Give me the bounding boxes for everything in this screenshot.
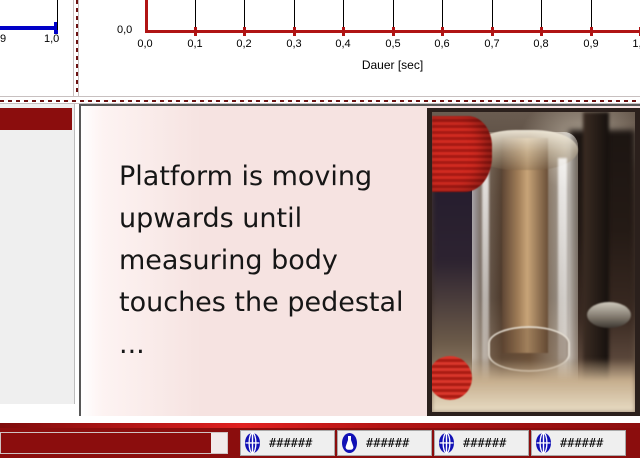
photo-red-knob-top	[432, 116, 492, 192]
laboratory-photo-image	[432, 112, 635, 412]
red-chart-x-tick-label-4: 0,4	[335, 38, 350, 50]
red-chart-tickmark-6	[441, 27, 444, 36]
horizontal-splitter-dash	[0, 100, 640, 102]
lower-region: Platform is moving upwards until measuri…	[0, 104, 640, 420]
red-chart-gridline-9	[591, 0, 592, 30]
photo-measuring-body	[502, 138, 548, 353]
red-chart-x-tick-label-1: 0,1	[187, 38, 202, 50]
red-chart-tickmark-9	[590, 27, 593, 36]
status-item[interactable]: ######	[434, 430, 529, 456]
red-chart-tickmark-3	[293, 27, 296, 36]
slide-content-card[interactable]: Platform is moving upwards until measuri…	[79, 104, 640, 416]
status-item-label: ######	[269, 436, 312, 450]
red-chart-y-zero-label: 0,0	[117, 24, 132, 36]
red-chart-tickmark-4	[342, 27, 345, 36]
red-chart-gridline-6	[442, 0, 443, 30]
blue-chart-panel[interactable]: 9 1,0	[0, 0, 73, 100]
globe-flask-icon	[341, 432, 358, 454]
red-chart-x-tick-label-9: 0,9	[583, 38, 598, 50]
red-chart-gridline-1	[195, 0, 196, 30]
red-chart-tickmark-8	[540, 27, 543, 36]
photo-dark-post	[583, 112, 609, 382]
red-chart-x-tick-label-5: 0,5	[385, 38, 400, 50]
blue-chart-gridline	[57, 0, 58, 30]
progress-bar[interactable]	[0, 432, 228, 454]
progress-bar-fill	[1, 433, 211, 453]
red-chart-gridline-7	[492, 0, 493, 30]
red-chart-gridline-5	[393, 0, 394, 30]
red-chart-x-tick-label-7: 0,7	[484, 38, 499, 50]
red-chart-x-tick-label-6: 0,6	[434, 38, 449, 50]
globe-split-icon	[438, 432, 455, 454]
red-chart-gridline-4	[343, 0, 344, 30]
horizontal-splitter[interactable]	[0, 96, 640, 104]
photo-metal-screw	[587, 302, 631, 328]
red-chart-tickmark-7	[491, 27, 494, 36]
red-chart-y-axis	[145, 0, 148, 33]
red-chart-panel[interactable]: 0,0 0,00,10,20,30,40,50,60,70,80,91,0 Da…	[79, 0, 640, 100]
status-item[interactable]: ######	[531, 430, 626, 456]
left-side-panel[interactable]	[0, 104, 75, 404]
status-item[interactable]: ######	[240, 430, 335, 456]
red-chart-gridline-3	[294, 0, 295, 30]
globe-split-icon	[244, 432, 261, 454]
red-chart-tickmark-5	[392, 27, 395, 36]
red-chart-axis-title: Dauer [sec]	[145, 58, 640, 72]
bottom-status-bar: ########################	[0, 416, 640, 458]
red-chart-gridline-2	[244, 0, 245, 30]
laboratory-photo	[427, 108, 640, 416]
left-panel-header-bar	[0, 108, 72, 130]
blue-series-line	[0, 26, 58, 30]
chart-strip: 9 1,0 0,0 0,00,10,20,30,40,50,60,70,80,9…	[0, 0, 640, 100]
status-item-label: ######	[463, 436, 506, 450]
status-item-label: ######	[560, 436, 603, 450]
red-chart-x-tick-label-0: 0,0	[137, 38, 152, 50]
slide-caption-text: Platform is moving upwards until measuri…	[119, 156, 419, 366]
status-item[interactable]: ######	[337, 430, 432, 456]
vertical-splitter-dash	[76, 0, 78, 100]
red-chart-gridline-8	[541, 0, 542, 30]
status-item-label: ######	[366, 436, 409, 450]
globe-split-icon	[535, 432, 552, 454]
red-chart-x-tick-label-2: 0,2	[236, 38, 251, 50]
red-chart-x-tick-label-3: 0,3	[286, 38, 301, 50]
red-chart-tickmark-1	[194, 27, 197, 36]
blue-tick-label-1: 1,0	[44, 33, 59, 45]
red-chart-tickmark-2	[243, 27, 246, 36]
blue-tick-label-0: 9	[0, 33, 6, 45]
red-chart-x-tick-label-8: 0,8	[533, 38, 548, 50]
red-chart-x-tick-label-10: 1,0	[632, 38, 640, 50]
